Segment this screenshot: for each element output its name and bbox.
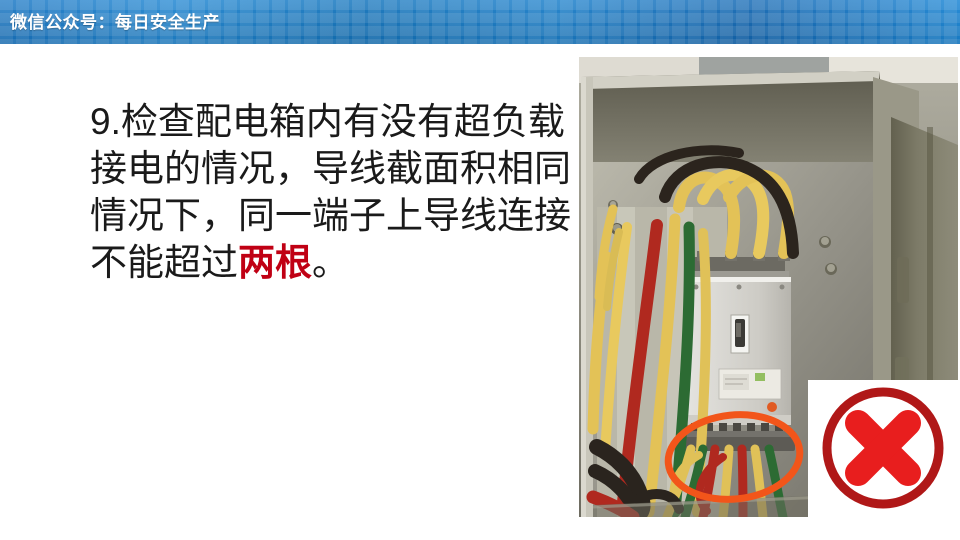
text-line-4-prefix: 不能超过 (90, 242, 238, 283)
text-line-3: 情况下，同一端子上导线连接 (90, 192, 520, 239)
x-mark-icon (808, 380, 958, 517)
text-line-2: 接电的情况，导线截面积相同 (90, 145, 520, 192)
text-line-2-content: 接电的情况，导线截面积相同 (90, 148, 571, 189)
top-banner: 微信公众号：每日安全生产 (0, 0, 960, 44)
text-line-4-suffix: 。 (312, 242, 349, 283)
prohibition-x-mark (808, 380, 958, 517)
banner-title: 微信公众号：每日安全生产 (10, 8, 220, 33)
text-line-3-content: 情况下，同一端子上导线连接 (90, 195, 571, 236)
text-line-1-content: 9.检查配电箱内有没有超负载 (90, 101, 565, 142)
text-line-1: 9.检查配电箱内有没有超负载 (90, 98, 520, 145)
text-line-4: 不能超过两根。 (90, 239, 520, 286)
text-line-4-highlight: 两根 (238, 242, 312, 283)
slide-body-text: 9.检查配电箱内有没有超负载 接电的情况，导线截面积相同 情况下，同一端子上导线… (90, 98, 520, 286)
